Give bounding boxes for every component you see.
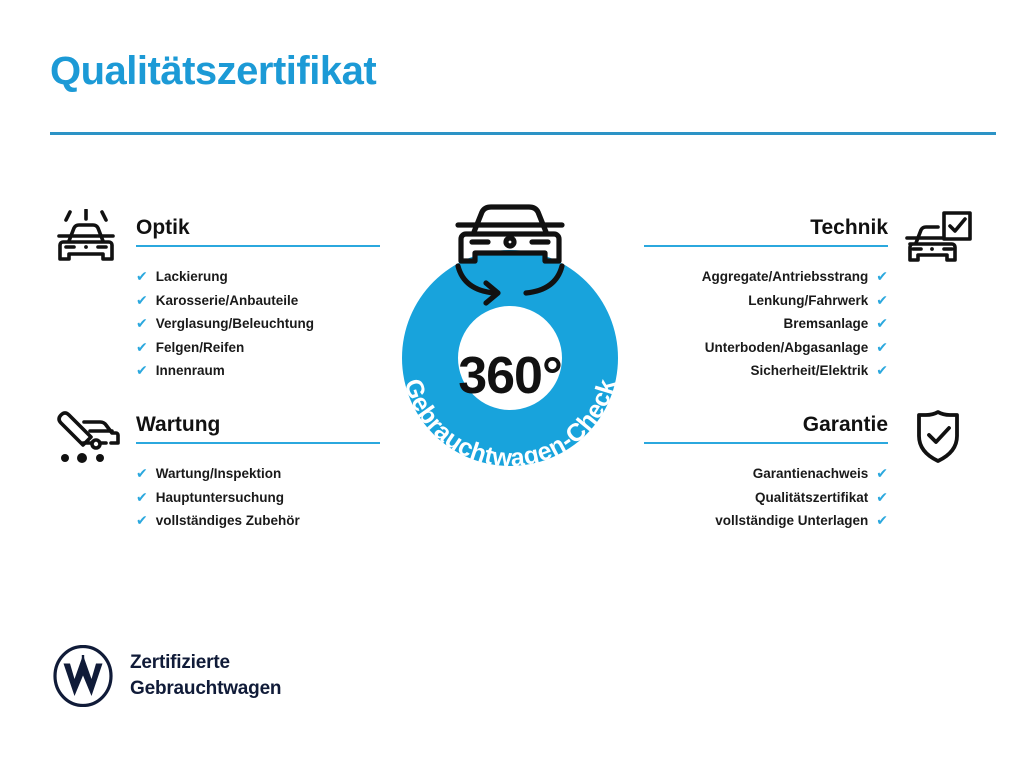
list-item: ✔ Unterboden/Abgasanlage bbox=[644, 336, 888, 360]
list-item-label: Hauptuntersuchung bbox=[156, 486, 284, 510]
list-item: ✔ vollständiges Zubehör bbox=[136, 509, 380, 533]
section-optik-divider bbox=[136, 245, 380, 247]
volkswagen-logo-icon bbox=[52, 645, 114, 707]
section-optik-head: Optik bbox=[50, 213, 380, 255]
section-technik: Technik ✔ Aggregate/Antriebsstrang ✔ Len… bbox=[644, 213, 974, 383]
check-icon: ✔ bbox=[136, 462, 148, 486]
check-icon: ✔ bbox=[876, 486, 888, 510]
check-icon: ✔ bbox=[876, 289, 888, 313]
list-item-label: Felgen/Reifen bbox=[156, 336, 245, 360]
list-item-label: Verglasung/Beleuchtung bbox=[156, 312, 314, 336]
list-item-label: Garantienachweis bbox=[753, 462, 869, 486]
list-item-label: Lenkung/Fahrwerk bbox=[748, 289, 868, 313]
check-icon: ✔ bbox=[876, 312, 888, 336]
vw-certified-text: Zertifizierte Gebrauchtwagen bbox=[130, 650, 281, 702]
check-icon: ✔ bbox=[136, 265, 148, 289]
list-item: ✔ Aggregate/Antriebsstrang bbox=[644, 265, 888, 289]
list-item: ✔ Qualitätszertifikat bbox=[644, 486, 888, 510]
badge-360-gebrauchtwagen-check: Gebrauchtwagen-Check 360° bbox=[372, 198, 648, 488]
list-item-label: vollständige Unterlagen bbox=[715, 509, 868, 533]
check-icon: ✔ bbox=[136, 359, 148, 383]
check-icon: ✔ bbox=[136, 336, 148, 360]
section-technik-head: Technik bbox=[644, 213, 974, 255]
section-technik-divider bbox=[644, 245, 888, 247]
check-icon: ✔ bbox=[136, 509, 148, 533]
list-item: ✔ Garantienachweis bbox=[644, 462, 888, 486]
section-optik: Optik ✔ Lackierung ✔ Karosserie/Anbautei… bbox=[50, 213, 380, 383]
list-item: ✔ Felgen/Reifen bbox=[136, 336, 380, 360]
section-optik-list: ✔ Lackierung ✔ Karosserie/Anbauteile ✔ V… bbox=[50, 265, 380, 383]
certificate-page: Qualitätszertifikat bbox=[0, 0, 1024, 768]
list-item-label: Innenraum bbox=[156, 359, 225, 383]
section-technik-title: Technik bbox=[644, 213, 888, 243]
section-wartung: Wartung ✔ Wartung/Inspektion ✔ Hauptunte… bbox=[50, 410, 380, 533]
check-icon: ✔ bbox=[136, 312, 148, 336]
list-item: ✔ Bremsanlage bbox=[644, 312, 888, 336]
vw-certified-line2: Gebrauchtwagen bbox=[130, 676, 281, 702]
section-wartung-divider bbox=[136, 442, 380, 444]
list-item-label: Wartung/Inspektion bbox=[156, 462, 282, 486]
section-wartung-title: Wartung bbox=[136, 410, 380, 440]
page-title: Qualitätszertifikat bbox=[50, 50, 376, 92]
list-item: ✔ Hauptuntersuchung bbox=[136, 486, 380, 510]
list-item: ✔ Sicherheit/Elektrik bbox=[644, 359, 888, 383]
list-item-label: Qualitätszertifikat bbox=[755, 486, 868, 510]
list-item-label: Aggregate/Antriebsstrang bbox=[702, 265, 869, 289]
check-icon: ✔ bbox=[136, 289, 148, 313]
list-item: ✔ Verglasung/Beleuchtung bbox=[136, 312, 380, 336]
list-item: ✔ vollständige Unterlagen bbox=[644, 509, 888, 533]
section-garantie-divider bbox=[644, 442, 888, 444]
list-item-label: Karosserie/Anbauteile bbox=[156, 289, 299, 313]
section-garantie: Garantie ✔ Garantienachweis ✔ Qualitätsz… bbox=[644, 410, 974, 533]
check-icon: ✔ bbox=[876, 265, 888, 289]
section-technik-list: ✔ Aggregate/Antriebsstrang ✔ Lenkung/Fah… bbox=[644, 265, 974, 383]
header-divider bbox=[50, 132, 996, 135]
list-item: ✔ Wartung/Inspektion bbox=[136, 462, 380, 486]
check-icon: ✔ bbox=[136, 486, 148, 510]
check-icon: ✔ bbox=[876, 509, 888, 533]
section-wartung-list: ✔ Wartung/Inspektion ✔ Hauptuntersuchung… bbox=[50, 462, 380, 533]
list-item-label: Unterboden/Abgasanlage bbox=[705, 336, 869, 360]
list-item-label: Bremsanlage bbox=[783, 312, 868, 336]
section-garantie-title: Garantie bbox=[644, 410, 888, 440]
list-item-label: vollständiges Zubehör bbox=[156, 509, 300, 533]
vw-certified-line1: Zertifizierte bbox=[130, 650, 281, 676]
list-item-label: Lackierung bbox=[156, 265, 228, 289]
badge-number: 360° bbox=[372, 350, 648, 402]
check-icon: ✔ bbox=[876, 359, 888, 383]
list-item: ✔ Lackierung bbox=[136, 265, 380, 289]
check-icon: ✔ bbox=[876, 336, 888, 360]
check-icon: ✔ bbox=[876, 462, 888, 486]
list-item-label: Sicherheit/Elektrik bbox=[750, 359, 868, 383]
section-wartung-head: Wartung bbox=[50, 410, 380, 452]
section-garantie-list: ✔ Garantienachweis ✔ Qualitätszertifikat… bbox=[644, 462, 974, 533]
vw-certified-lockup: Zertifizierte Gebrauchtwagen bbox=[52, 645, 281, 707]
list-item: ✔ Karosserie/Anbauteile bbox=[136, 289, 380, 313]
list-item: ✔ Innenraum bbox=[136, 359, 380, 383]
section-garantie-head: Garantie bbox=[644, 410, 974, 452]
section-optik-title: Optik bbox=[136, 213, 380, 243]
list-item: ✔ Lenkung/Fahrwerk bbox=[644, 289, 888, 313]
